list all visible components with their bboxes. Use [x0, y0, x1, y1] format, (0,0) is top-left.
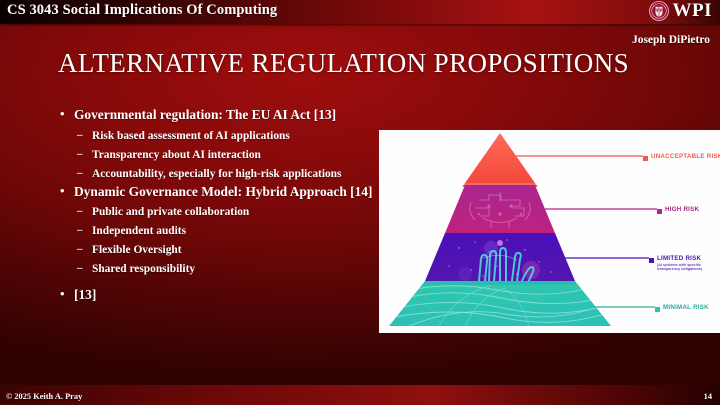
bullet-level2: – Shared responsibility [58, 262, 378, 276]
bullet-level1: • [13] [58, 287, 378, 304]
bullet-text: Shared responsibility [92, 263, 195, 275]
tier-label-text: LIMITED RISK [657, 255, 701, 263]
bullet-text: [13] [74, 287, 96, 302]
footer-bar [0, 385, 720, 405]
tier-label-text: HIGH RISK [665, 206, 699, 214]
bullet-level2: – Flexible Oversight [58, 243, 378, 257]
bullet-marker: – [77, 166, 83, 180]
bullet-marker: – [77, 147, 83, 161]
page-number: 14 [704, 392, 712, 401]
copyright-text: © 2025 Keith A. Pray [6, 392, 82, 401]
bullet-marker: • [60, 183, 65, 200]
wpi-seal-icon [649, 1, 669, 21]
bullet-text: Independent audits [92, 225, 186, 237]
wpi-wordmark: WPI [673, 1, 713, 21]
tier-label-text: UNACCEPTABLE RISK [651, 153, 720, 161]
bullet-level2: – Accountability, especially for high-ri… [58, 167, 378, 181]
legend-swatch-icon [657, 209, 662, 214]
bullet-level2: – Public and private collaboration [58, 205, 378, 219]
bullet-text: Public and private collaboration [92, 206, 249, 218]
legend-swatch-icon [655, 307, 660, 312]
bullet-marker: • [60, 106, 65, 123]
bullet-marker: • [60, 286, 65, 303]
risk-pyramid-figure: UNACCEPTABLE RISK HIGH RISK LIMITED RISK… [379, 130, 720, 333]
bullet-marker: – [77, 242, 83, 256]
tier-label-high: HIGH RISK [657, 206, 699, 214]
bullet-text: Flexible Oversight [92, 244, 182, 256]
bullet-text: Transparency about AI interaction [92, 149, 261, 161]
bullet-marker: – [77, 261, 83, 275]
course-title: CS 3043 Social Implications Of Computing [7, 2, 277, 19]
bullet-text: Risk based assessment of AI applications [92, 130, 290, 142]
bullet-text: Dynamic Governance Model: Hybrid Approac… [74, 184, 372, 199]
bullet-list: • Governmental regulation: The EU AI Act… [58, 104, 378, 304]
bullet-level1: • Dynamic Governance Model: Hybrid Appro… [58, 184, 378, 201]
tier-label-text: MINIMAL RISK [663, 304, 709, 312]
bullet-marker: – [77, 204, 83, 218]
bullet-level1: • Governmental regulation: The EU AI Act… [58, 107, 378, 124]
bullet-level2: – Independent audits [58, 224, 378, 238]
tier-sublabel-text: (AI systems with specific transparency o… [657, 263, 719, 272]
bullet-level2: – Transparency about AI interaction [58, 148, 378, 162]
tier-label-minimal: MINIMAL RISK [655, 304, 709, 312]
tier-label-limited: LIMITED RISK (AI systems with specific t… [649, 255, 719, 272]
tier-label-unacceptable: UNACCEPTABLE RISK [643, 153, 720, 161]
slide: CS 3043 Social Implications Of Computing… [0, 0, 720, 405]
legend-swatch-icon [649, 258, 654, 263]
page-title: ALTERNATIVE REGULATION PROPOSITIONS [58, 47, 629, 79]
bullet-text: Governmental regulation: The EU AI Act [… [74, 107, 336, 122]
bullet-marker: – [77, 128, 83, 142]
bullet-marker: – [77, 223, 83, 237]
legend-swatch-icon [643, 156, 648, 161]
presenter-name: Joseph DiPietro [632, 34, 710, 46]
bullet-level2: – Risk based assessment of AI applicatio… [58, 129, 378, 143]
bullet-text: Accountability, especially for high-risk… [92, 168, 341, 180]
wpi-brand: WPI [649, 1, 713, 21]
